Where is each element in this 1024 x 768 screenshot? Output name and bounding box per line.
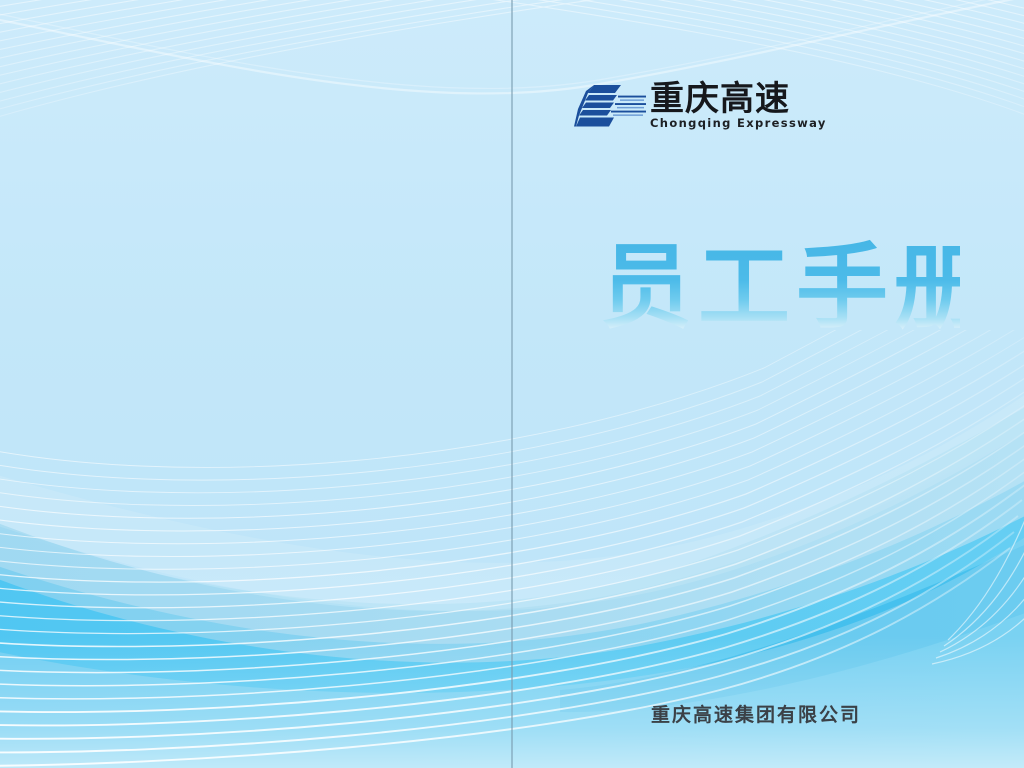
cover-title: 员工手册 bbox=[600, 238, 960, 338]
cover-page: 重庆高速 Chongqing Expressway 员工手册 重庆高速集团有限公… bbox=[0, 0, 1024, 768]
cover-title-text: 员工手册 bbox=[600, 238, 960, 338]
company-logo: 重庆高速 Chongqing Expressway bbox=[574, 82, 827, 130]
logo-english-name: Chongqing Expressway bbox=[650, 117, 827, 130]
chongqing-expressway-speed-mark-icon bbox=[574, 83, 648, 129]
footer-company-name: 重庆高速集团有限公司 bbox=[0, 703, 1024, 727]
logo-chinese-name: 重庆高速 bbox=[650, 82, 790, 116]
cover-fold-line bbox=[511, 0, 513, 768]
logo-wordmark: 重庆高速 Chongqing Expressway bbox=[650, 82, 827, 130]
footer-company-name-text: 重庆高速集团有限公司 bbox=[651, 704, 861, 726]
